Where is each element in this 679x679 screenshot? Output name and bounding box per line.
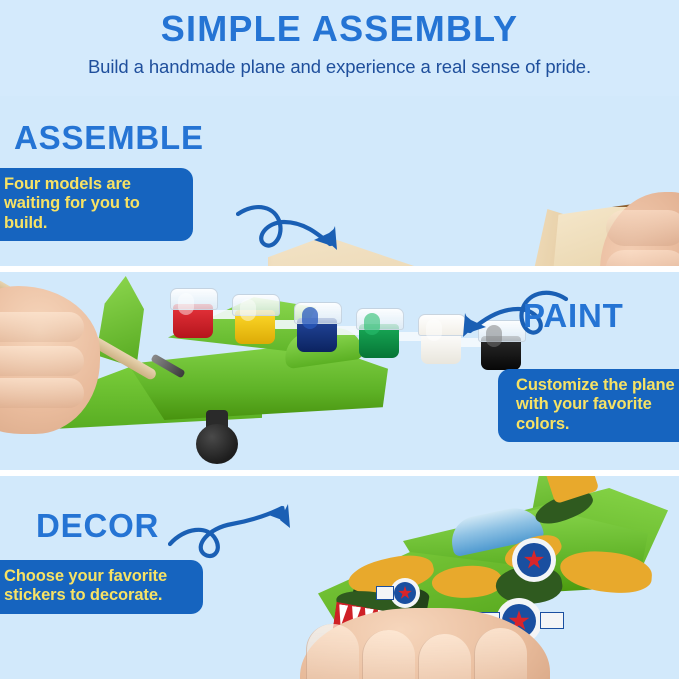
hand-assembling	[600, 192, 679, 266]
panel-divider-2	[0, 470, 679, 476]
paint-pot-yellow	[232, 294, 278, 344]
roundel-bar	[540, 612, 564, 629]
landing-gear-wheel	[196, 424, 238, 464]
callout-paint: Customize the plane with your favorite c…	[498, 369, 679, 442]
curly-arrow-right-icon	[168, 498, 300, 560]
page-title: SIMPLE ASSEMBLY	[0, 11, 679, 47]
section-heading-paint: PAINT	[523, 299, 624, 332]
callout-decor: Choose your favorite stickers to decorat…	[0, 560, 203, 614]
callout-assemble: Four models are waiting for you to build…	[0, 168, 193, 241]
paint-pot-green	[356, 308, 402, 358]
panel-divider-1	[0, 266, 679, 272]
star-roundel-icon	[512, 538, 556, 582]
section-heading-assemble: ASSEMBLE	[14, 121, 204, 154]
section-heading-decor: DECOR	[36, 509, 159, 542]
header-banner: SIMPLE ASSEMBLY Build a handmade plane a…	[0, 0, 679, 96]
roundel-bar	[376, 586, 394, 600]
panel-assemble: ASSEMBLE Four models are waiting for you…	[0, 96, 679, 266]
paint-pot-red	[170, 288, 216, 338]
infographic-canvas: SIMPLE ASSEMBLY Build a handmade plane a…	[0, 0, 679, 679]
curly-arrow-down-right-icon	[236, 200, 348, 262]
star-roundel-icon	[390, 578, 420, 608]
page-subtitle: Build a handmade plane and experience a …	[0, 58, 679, 77]
paint-pot-blue	[294, 302, 340, 352]
